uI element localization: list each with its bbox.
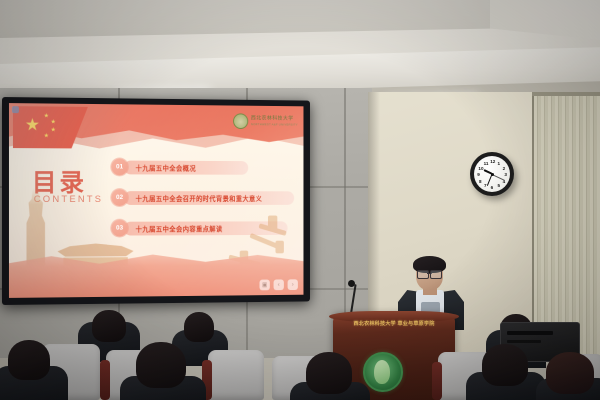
contents-item-label: 十九届五中全会内容重点解读 xyxy=(136,223,223,233)
contents-item-label: 十九届五中全会概况 xyxy=(136,162,196,172)
equipment-slot xyxy=(507,340,541,343)
clock-numeral: 9 xyxy=(477,172,480,177)
audience-head xyxy=(136,342,186,388)
university-name-en: NORTHWEST A&F UNIVERSITY xyxy=(251,123,298,126)
university-name-cn: 西北农林科技大学 xyxy=(251,117,298,122)
contents-item-pill: 十九届五中全会召开的时代背景和重大意义 xyxy=(124,191,294,205)
seat-armrest xyxy=(432,362,442,400)
clock-numeral: 3 xyxy=(504,172,507,177)
auditorium-seat[interactable] xyxy=(208,350,264,400)
eyeglasses-icon xyxy=(417,270,442,277)
presenter-view-icon[interactable]: ▣ xyxy=(260,280,270,291)
contents-item-number: 03 xyxy=(111,220,128,237)
slide-title-en: CONTENTS xyxy=(34,194,103,205)
university-logo: 西北农林科技大学 NORTHWEST A&F UNIVERSITY xyxy=(233,113,298,129)
audience-head xyxy=(306,352,352,394)
flag-star-large: ★ xyxy=(25,116,40,133)
next-slide-icon[interactable]: › xyxy=(288,279,298,290)
university-emblem xyxy=(363,352,403,392)
flag-star-small: ★ xyxy=(51,119,56,125)
slide-navigation-controls[interactable]: ▣ ‹ › xyxy=(260,279,298,290)
clock-numeral: 6 xyxy=(491,185,494,190)
wall-clock: 12 1 2 3 4 5 6 7 8 9 10 11 xyxy=(470,152,514,196)
clock-numeral: 5 xyxy=(498,183,501,188)
audience-head xyxy=(184,312,214,342)
tiananmen-roof xyxy=(57,243,133,256)
audience-head xyxy=(482,344,528,386)
contents-item-pill: 十九届五中全会概况 xyxy=(124,160,248,174)
flag-star-small: ★ xyxy=(44,133,49,139)
contents-item-label: 十九届五中全会召开的时代背景和重大意义 xyxy=(136,193,263,203)
slide-corner-badge xyxy=(12,106,19,113)
flag-star-small: ★ xyxy=(51,127,56,133)
lecture-hall-photo: 12 1 2 3 4 5 6 7 8 9 10 11 ★ ★ xyxy=(0,0,600,400)
clock-center-pin xyxy=(491,173,494,176)
contents-item-number: 02 xyxy=(111,189,128,206)
flag-star-small: ★ xyxy=(44,113,49,119)
university-emblem-icon xyxy=(233,113,248,129)
audience-head xyxy=(8,340,50,380)
audience-head xyxy=(92,310,126,342)
contents-item-number: 01 xyxy=(111,159,128,176)
vertical-blinds[interactable] xyxy=(532,96,600,358)
clock-numeral: 8 xyxy=(479,179,482,184)
lectern-banner-text: 西北农林科技大学 草业与草原学院 xyxy=(337,320,451,327)
projection-screen-frame: ★ ★ ★ ★ ★ 西北农林科技大学 NORTHWEST A&F UNIVERS… xyxy=(2,97,310,305)
clock-numeral: 12 xyxy=(490,159,495,164)
clock-numeral: 1 xyxy=(498,161,501,166)
contents-item[interactable]: 02 十九届五中全会召开的时代背景和重大意义 xyxy=(111,189,294,206)
projection-screen[interactable]: ★ ★ ★ ★ ★ 西北农林科技大学 NORTHWEST A&F UNIVERS… xyxy=(9,103,303,298)
previous-slide-icon[interactable]: ‹ xyxy=(274,279,284,290)
audience-head xyxy=(546,352,594,394)
contents-item[interactable]: 01 十九届五中全会概况 xyxy=(111,159,294,176)
clock-numeral: 2 xyxy=(503,166,506,171)
equipment-slot xyxy=(507,331,553,335)
seat-armrest xyxy=(100,360,110,400)
clock-numeral: 11 xyxy=(484,161,489,166)
presentation-slide: ★ ★ ★ ★ ★ 西北农林科技大学 NORTHWEST A&F UNIVERS… xyxy=(9,103,303,298)
